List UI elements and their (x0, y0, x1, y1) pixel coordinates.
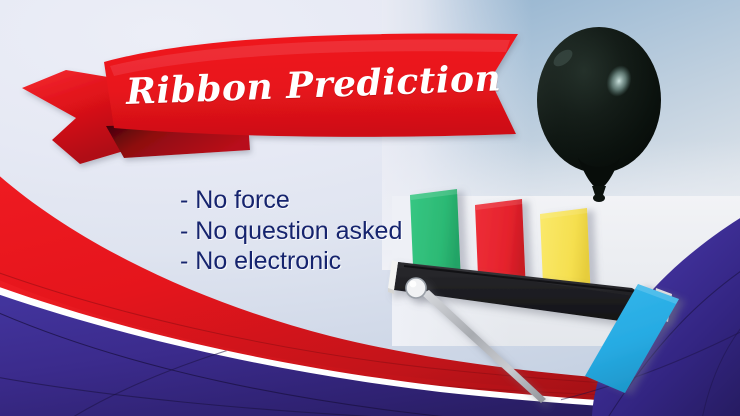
balloon-rim-light (537, 27, 661, 173)
needle-head-highlight (410, 281, 417, 288)
ribbon-banner: Ribbon Prediction (18, 18, 538, 178)
needle-head (406, 278, 426, 298)
slide-canvas: Ribbon Prediction (0, 0, 740, 416)
props-group (380, 170, 740, 416)
